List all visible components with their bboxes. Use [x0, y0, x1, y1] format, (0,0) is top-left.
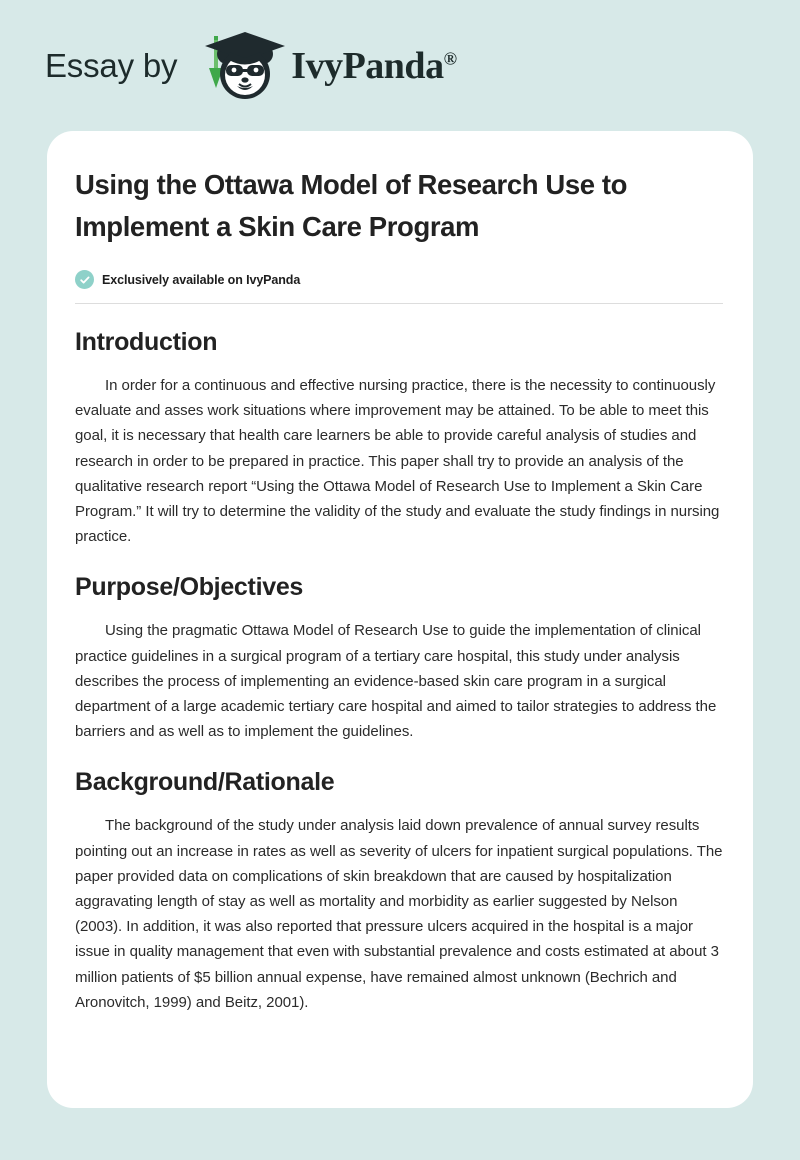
- panda-graduate-logo-icon: [193, 30, 289, 102]
- brand-wordmark: IvyPanda®: [291, 44, 456, 88]
- site-header: Essay by: [0, 0, 800, 131]
- registered-trademark-symbol: ®: [444, 48, 457, 68]
- section-paragraph: In order for a continuous and effective …: [75, 373, 723, 549]
- section-heading-background-rationale: Background/Rationale: [75, 768, 723, 797]
- section-paragraph: Using the pragmatic Ottawa Model of Rese…: [75, 618, 723, 744]
- essay-card: Using the Ottawa Model of Research Use t…: [47, 131, 753, 1108]
- brand-name-text: IvyPanda: [291, 45, 443, 87]
- section-heading-introduction: Introduction: [75, 328, 723, 357]
- section-heading-purpose-objectives: Purpose/Objectives: [75, 573, 723, 602]
- section-paragraph: The background of the study under analys…: [75, 813, 723, 1015]
- page-title: Using the Ottawa Model of Research Use t…: [75, 164, 723, 248]
- status-badge-label: Exclusively available on IvyPanda: [102, 273, 300, 287]
- ivypanda-logo[interactable]: IvyPanda®: [193, 30, 456, 102]
- status-badge: Exclusively available on IvyPanda: [75, 270, 723, 289]
- check-circle-icon: [75, 270, 94, 289]
- brand-lockup[interactable]: Essay by: [45, 30, 457, 102]
- title-divider: [75, 303, 723, 304]
- essay-by-label: Essay by: [45, 47, 177, 85]
